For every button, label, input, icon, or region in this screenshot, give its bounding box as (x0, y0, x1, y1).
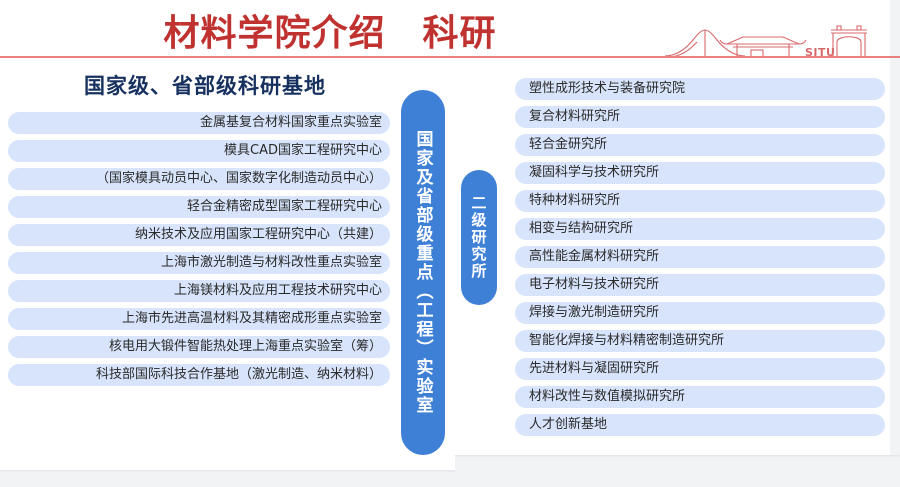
category-capsule-institutes-label: 二级研究所 (469, 195, 490, 280)
list-item[interactable]: 金属基复合材料国家重点实验室 (8, 112, 390, 134)
category-capsule-institutes: 二级研究所 (461, 170, 497, 305)
list-item[interactable]: 材料改性与数值模拟研究所 (515, 386, 885, 408)
list-item[interactable]: 特种材料研究所 (515, 190, 885, 212)
list-item[interactable]: 先进材料与凝固研究所 (515, 358, 885, 380)
list-item[interactable]: 上海市激光制造与材料改性重点实验室 (8, 252, 390, 274)
list-item[interactable]: 核电用大锻件智能热处理上海重点实验室（筹） (8, 336, 390, 358)
list-item[interactable]: 相变与结构研究所 (515, 218, 885, 240)
left-section-heading: 国家级、省部级科研基地 (40, 70, 370, 100)
list-item[interactable]: 科技部国际科技合作基地（激光制造、纳米材料） (8, 364, 390, 386)
secondary-institute-list: 塑性成形技术与装备研究院 复合材料研究所 轻合金研究所 凝固科学与技术研究所 特… (515, 78, 885, 442)
list-item[interactable]: 纳米技术及应用国家工程研究中心（共建） (8, 224, 390, 246)
slide-canvas: 材料学院介绍 科研 (0, 0, 900, 487)
list-item[interactable]: 智能化焊接与材料精密制造研究所 (515, 330, 885, 352)
category-capsule-key-lab: 国家及省部级重点（工程）实验室 (401, 90, 445, 455)
list-item[interactable]: 轻合金精密成型国家工程研究中心 (8, 196, 390, 218)
list-item[interactable]: 塑性成形技术与装备研究院 (515, 78, 885, 100)
slide-right-margin (890, 0, 900, 455)
slide-bottom-edge-left (0, 470, 455, 473)
page-title: 材料学院介绍 科研 (0, 4, 660, 56)
title-divider-rule (0, 56, 900, 58)
list-item[interactable]: 焊接与激光制造研究所 (515, 302, 885, 324)
list-item[interactable]: （国家模具动员中心、国家数字化制造动员中心） (8, 168, 390, 190)
list-item[interactable]: 模具CAD国家工程研究中心 (8, 140, 390, 162)
list-item[interactable]: 凝固科学与技术研究所 (515, 162, 885, 184)
list-item[interactable]: 复合材料研究所 (515, 106, 885, 128)
national-provincial-base-list: 金属基复合材料国家重点实验室 模具CAD国家工程研究中心 （国家模具动员中心、国… (8, 112, 390, 392)
list-item[interactable]: 轻合金研究所 (515, 134, 885, 156)
list-item[interactable]: 上海市先进高温材料及其精密成形重点实验室 (8, 308, 390, 330)
list-item[interactable]: 人才创新基地 (515, 414, 885, 436)
campus-skyline-icon: SJTU (665, 6, 895, 58)
list-item[interactable]: 高性能金属材料研究所 (515, 246, 885, 268)
slide-bottom-edge-right (455, 455, 900, 458)
list-item[interactable]: 上海镁材料及应用工程技术研究中心 (8, 280, 390, 302)
list-item[interactable]: 电子材料与技术研究所 (515, 274, 885, 296)
category-capsule-key-lab-label: 国家及省部级重点（工程）实验室 (411, 130, 436, 415)
